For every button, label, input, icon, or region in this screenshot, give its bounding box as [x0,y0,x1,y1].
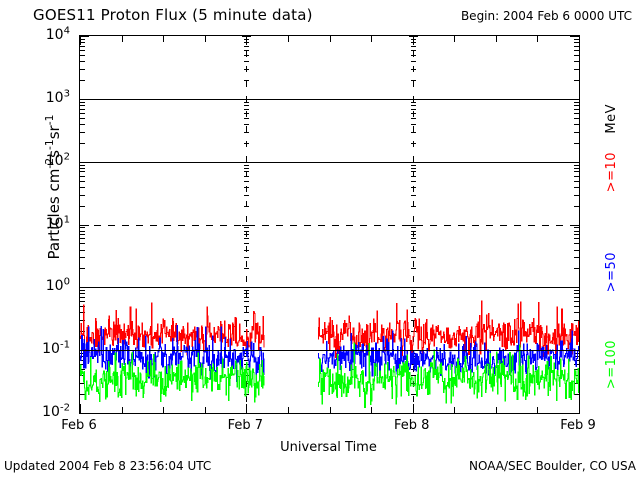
y-tick-label: 10-1 [42,341,70,357]
x-tick-label: Feb 8 [394,418,429,433]
source-attribution: NOAA/SEC Boulder, CO USA [469,459,636,473]
legend-item-ge100: >=100 [604,340,619,389]
legend-item-ge10: >=10 [604,152,619,192]
page-title: GOES11 Proton Flux (5 minute data) [33,6,313,24]
legend-unit-mev: MeV [604,104,619,134]
updated-timestamp: Updated 2004 Feb 8 23:56:04 UTC [4,459,211,473]
begin-time-label: Begin: 2004 Feb 6 0000 UTC [461,9,632,23]
y-tick-label: 102 [46,153,70,169]
chart-svg [80,36,579,413]
legend-item-ge50: >=50 [604,252,619,292]
x-axis-title: Universal Time [79,440,578,455]
chart-plot-area [79,35,580,414]
x-tick-label: Feb 9 [560,418,595,433]
x-tick-label: Feb 7 [228,418,263,433]
proton-flux-plot-page: GOES11 Proton Flux (5 minute data) Begin… [0,0,640,480]
y-tick-label: 100 [46,278,70,294]
y-tick-label: 104 [46,27,70,43]
chart-canvas-layer [80,36,579,413]
y-tick-label: 103 [46,90,70,106]
y-tick-label: 101 [46,216,70,232]
x-tick-label: Feb 6 [61,418,96,433]
